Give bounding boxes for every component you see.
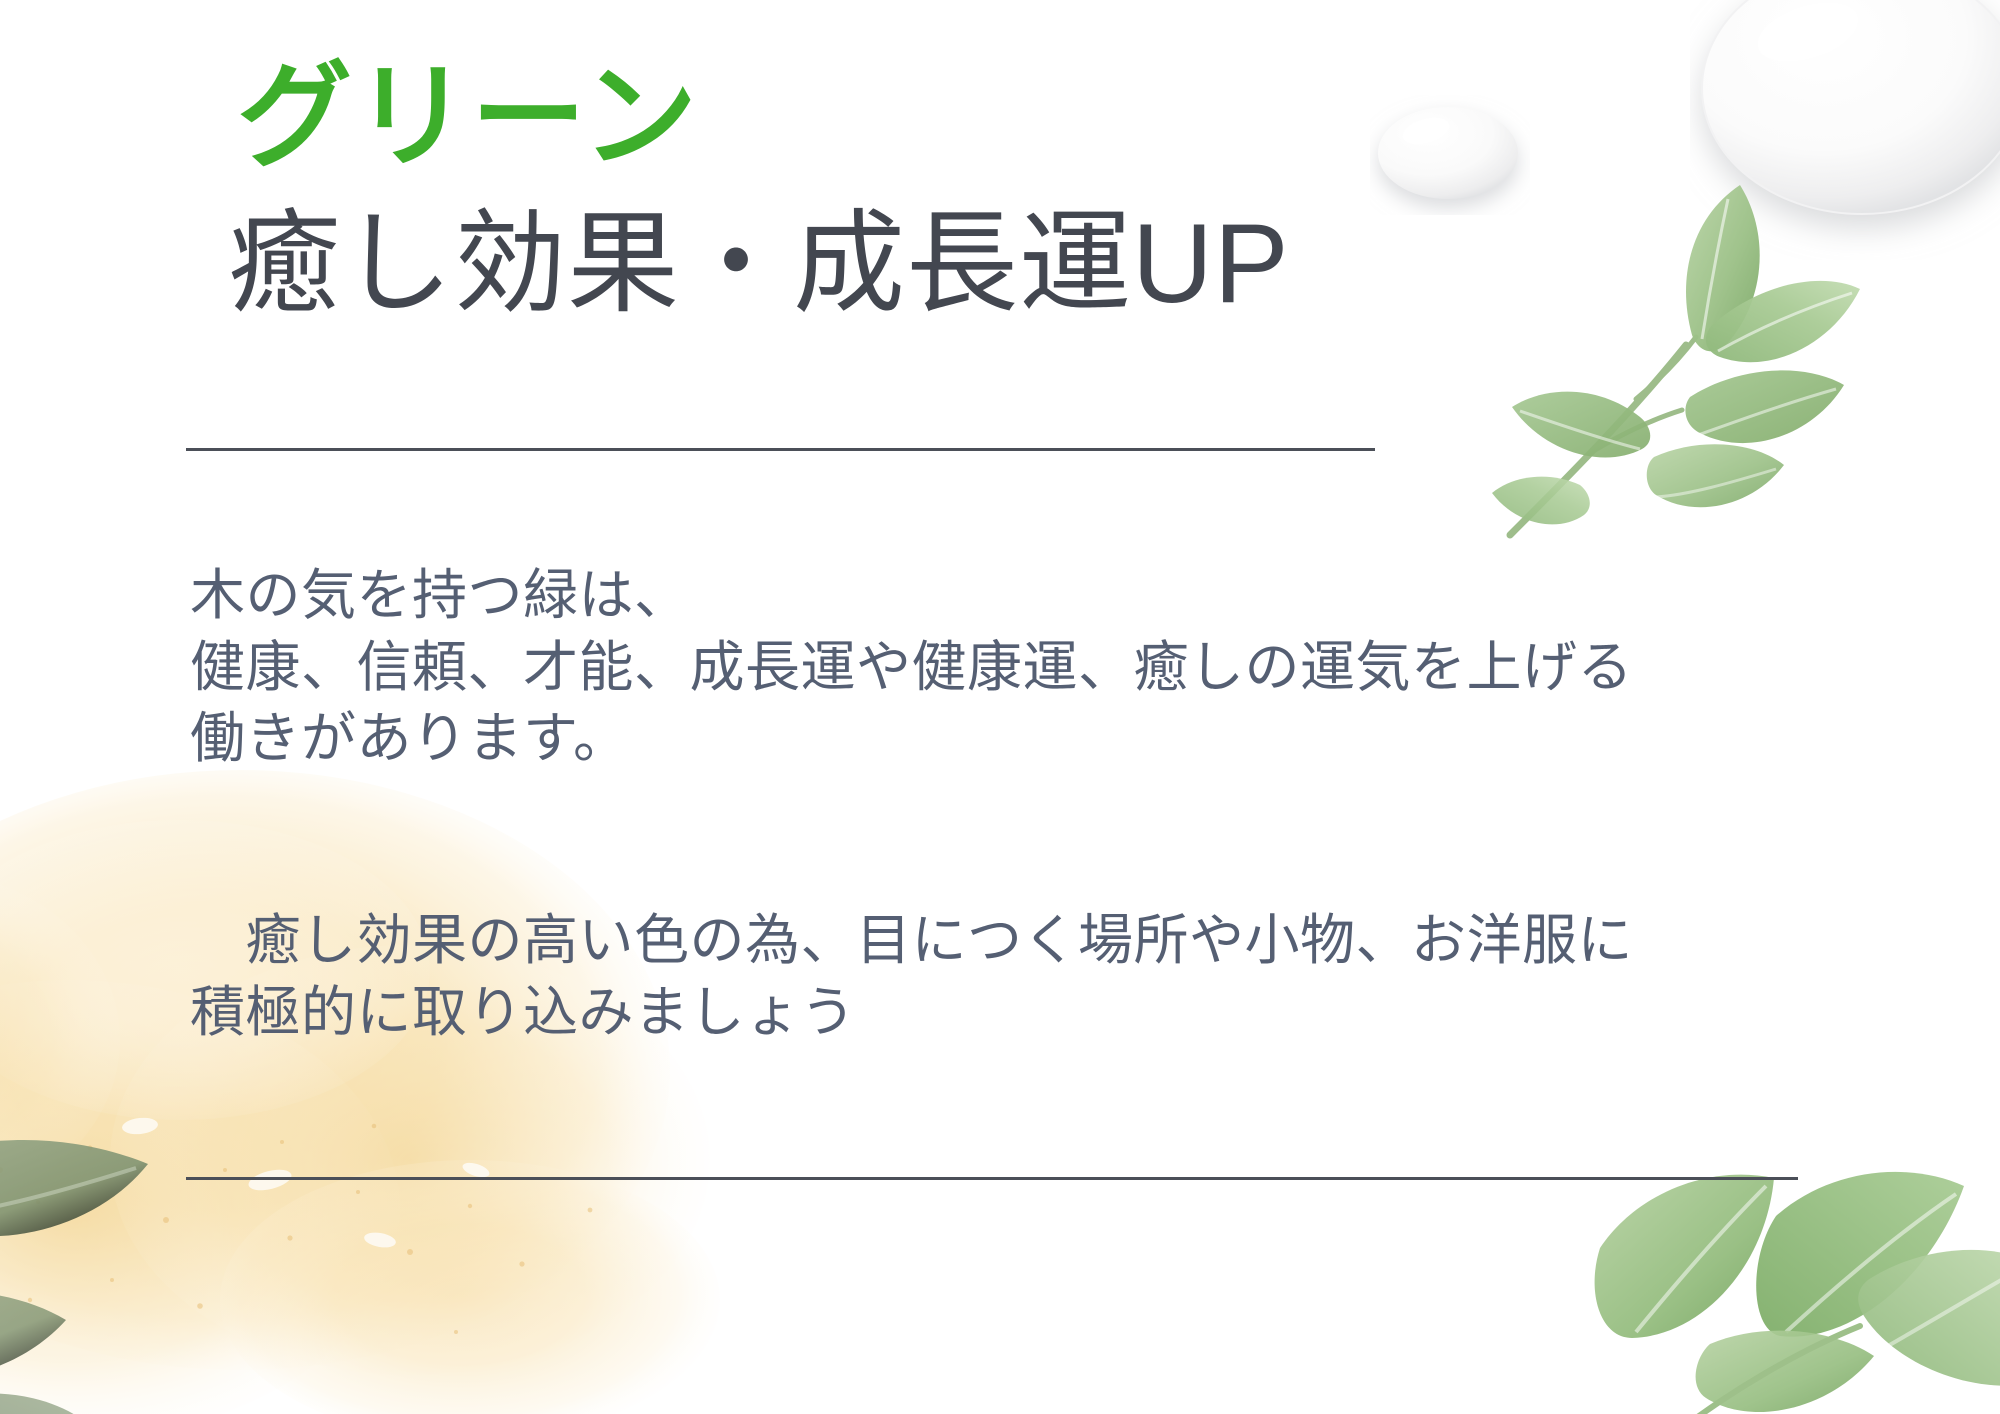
page-title-accent: グリーン <box>237 60 699 175</box>
poster-canvas: グリーン 癒し効果・成長運UP 木の気を持つ緑は、 健康、信頼、才能、成長運や健… <box>0 0 2000 1414</box>
body-paragraph-2: 癒し効果の高い色の為、目につく場所や小物、お洋服に 積極的に取り込みましょう <box>190 905 1633 1048</box>
content-layer: グリーン 癒し効果・成長運UP 木の気を持つ緑は、 健康、信頼、才能、成長運や健… <box>0 0 2000 1414</box>
divider-bottom <box>186 1177 1798 1180</box>
page-title-main: 癒し効果・成長運UP <box>228 208 1290 320</box>
body-paragraph-1: 木の気を持つ緑は、 健康、信頼、才能、成長運や健康運、癒しの運気を上げる 働きが… <box>190 560 1633 775</box>
divider-top <box>186 448 1375 451</box>
